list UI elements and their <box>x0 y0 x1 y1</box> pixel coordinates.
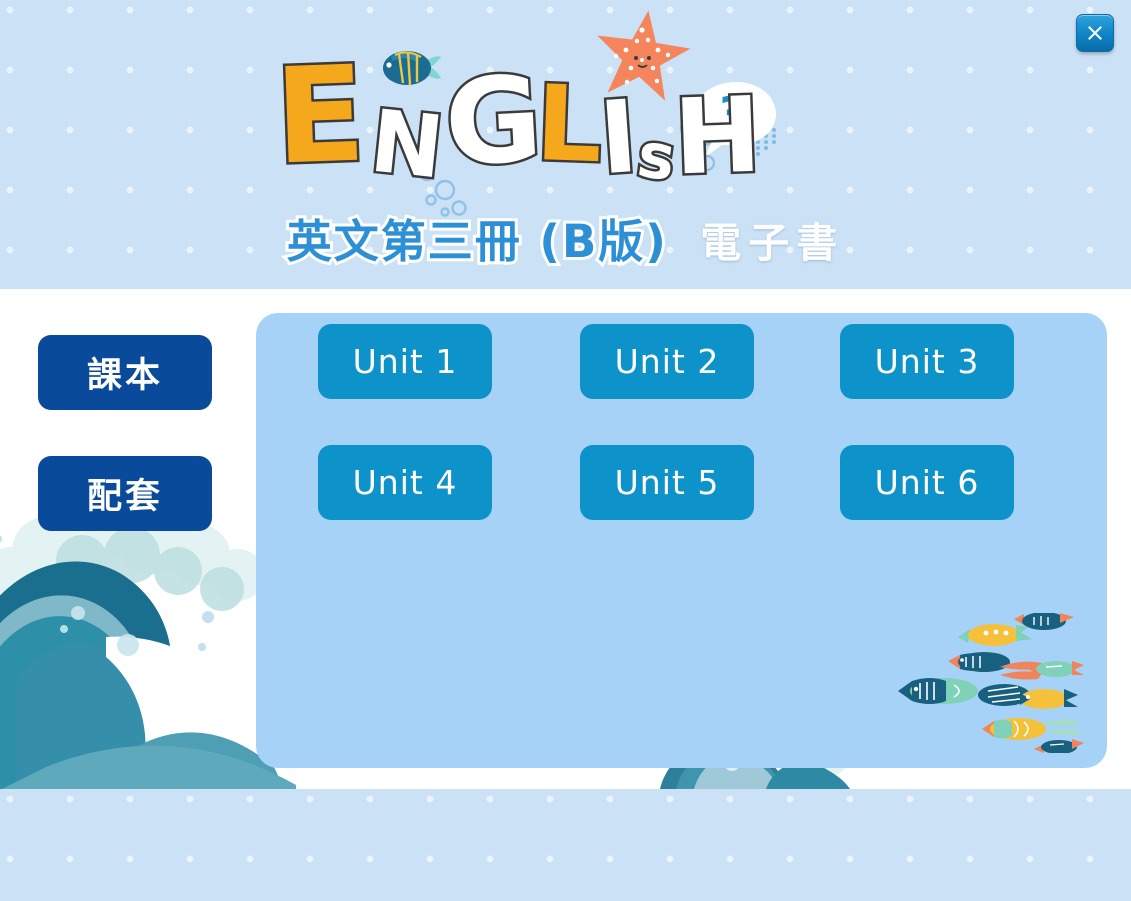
wave-illustration <box>0 517 296 789</box>
wordmark-letter-s: s <box>634 124 679 191</box>
footer-bar: 東大圖書公司 返回主選單 <box>0 789 1131 901</box>
subtitle-row: 英文第三冊 (B版) 電子書 <box>0 205 1131 270</box>
unit-button-6[interactable]: Unit 6 <box>840 445 1014 520</box>
wordmark-letter-h: H <box>672 83 763 190</box>
wordmark-letter-g: G <box>442 60 545 183</box>
main-stage: 課本 配套 Unit 1 Unit 2 Unit 3 Unit 4 Unit 5… <box>0 289 1131 789</box>
wordmark-letter-n: N <box>367 98 448 191</box>
subtitle-main: 英文第三冊 (B版) <box>287 215 668 268</box>
sidebar-item-label: 配套 <box>87 468 163 519</box>
ebook-menu-screen: 3 E N G L I s H 英文第三冊 (B版) <box>0 0 1131 901</box>
unit-button-4[interactable]: Unit 4 <box>318 445 492 520</box>
header-banner: 3 E N G L I s H 英文第三冊 (B版) <box>0 0 1131 289</box>
unit-panel: Unit 1 Unit 2 Unit 3 Unit 4 Unit 5 Unit … <box>256 313 1107 768</box>
wordmark-letter-i: I <box>597 87 641 189</box>
sidebar-item-textbook[interactable]: 課本 <box>38 335 212 410</box>
sidebar-item-label: 課本 <box>87 347 163 398</box>
fish-school-icon <box>896 613 1086 753</box>
unit-button-label: Unit 3 <box>875 342 980 381</box>
unit-button-label: Unit 4 <box>353 463 458 502</box>
unit-button-label: Unit 6 <box>875 463 980 502</box>
unit-button-label: Unit 2 <box>615 342 720 381</box>
unit-button-label: Unit 1 <box>353 342 458 381</box>
unit-button-2[interactable]: Unit 2 <box>580 324 754 399</box>
unit-button-1[interactable]: Unit 1 <box>318 324 492 399</box>
subtitle-sub: 電子書 <box>700 219 844 267</box>
sidebar-item-supplement[interactable]: 配套 <box>38 456 212 531</box>
unit-button-3[interactable]: Unit 3 <box>840 324 1014 399</box>
wordmark-letter-e: E <box>273 48 368 183</box>
english-wordmark: E N G L I s H <box>275 40 805 205</box>
unit-button-5[interactable]: Unit 5 <box>580 445 754 520</box>
close-button[interactable] <box>1076 14 1114 52</box>
close-icon <box>1085 23 1105 43</box>
wordmark-letter-l: L <box>534 71 604 177</box>
unit-button-label: Unit 5 <box>615 463 720 502</box>
